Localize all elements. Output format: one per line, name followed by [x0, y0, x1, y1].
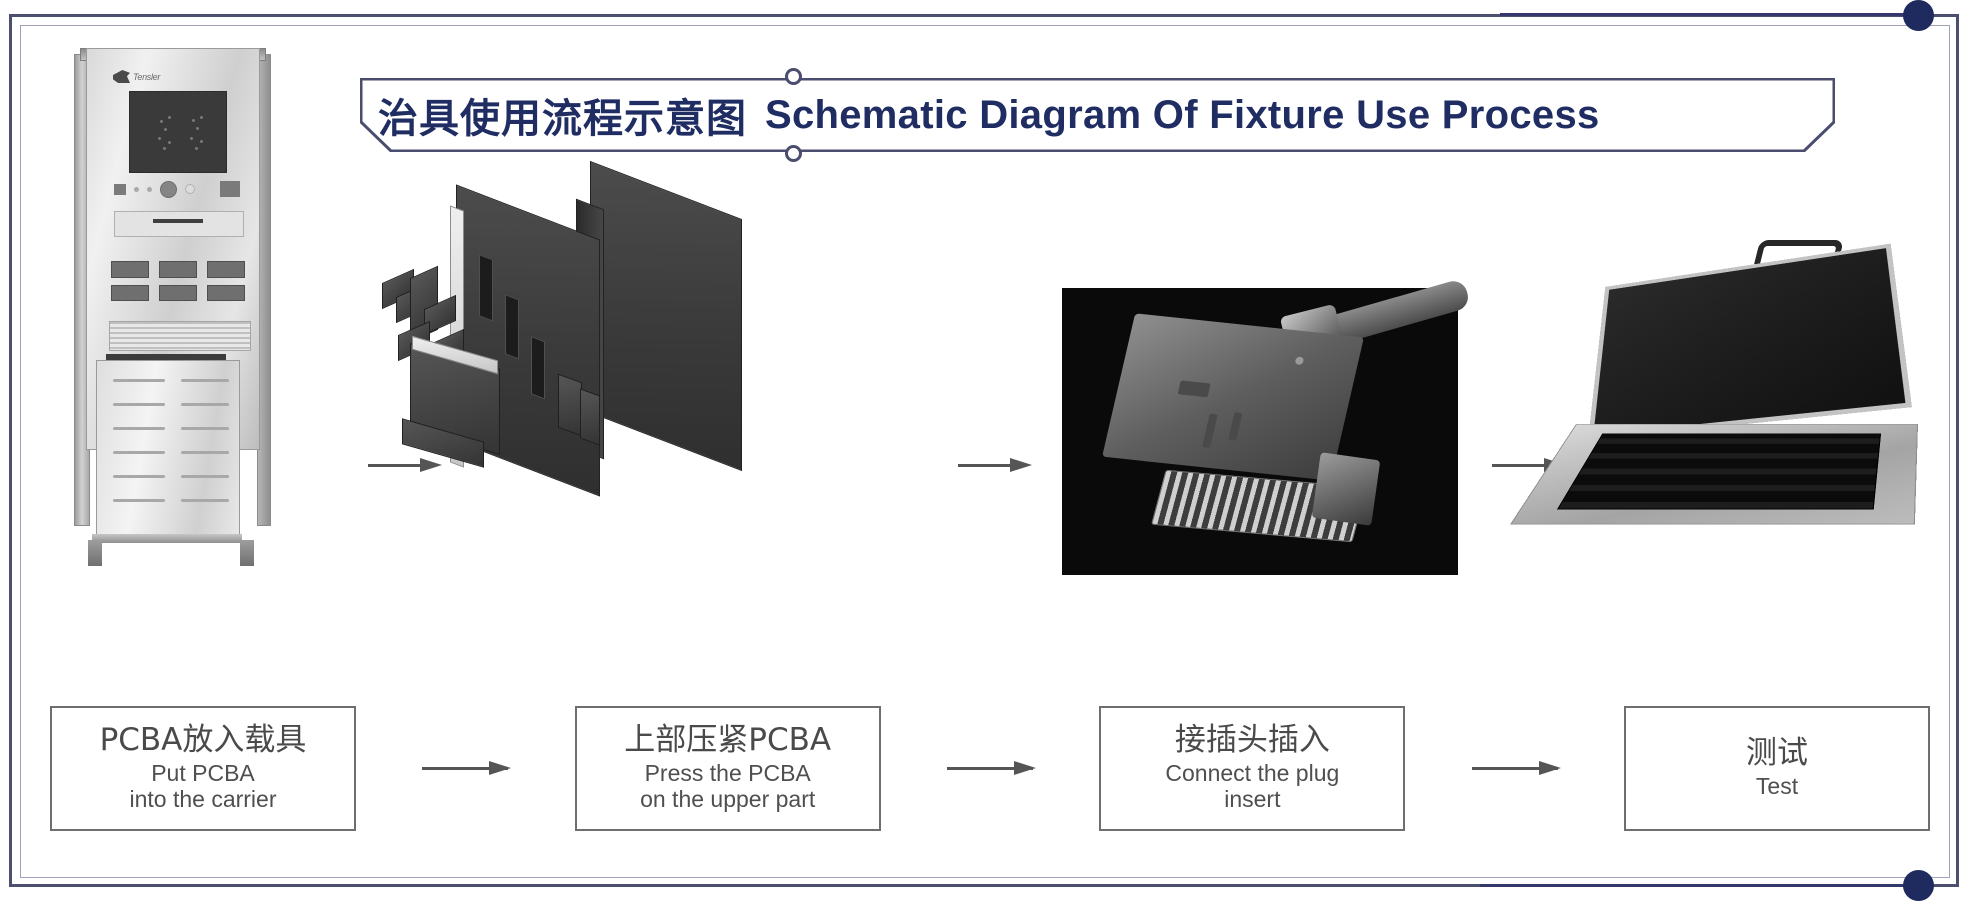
step-box-1[interactable]: PCBA放入载具 Put PCBA into the carrier — [50, 706, 356, 831]
rack-vent-grille — [109, 321, 251, 351]
control-knob — [160, 181, 177, 198]
rack-brand-logo: Tensler — [113, 69, 199, 84]
rack-control-panel — [114, 179, 240, 199]
arrow-head-icon — [1010, 458, 1032, 472]
cad-cutout-2 — [505, 294, 519, 359]
step-box-2[interactable]: 上部压紧PCBA Press the PCBA on the upper par… — [575, 706, 881, 831]
step-arrow-1 — [356, 757, 575, 779]
step-3-label-en-line2: insert — [1224, 786, 1280, 812]
case-base — [1510, 424, 1918, 525]
step-1-label-en-line2: into the carrier — [129, 786, 276, 812]
rack-display-screen — [129, 91, 227, 173]
housing-marking-3 — [1228, 412, 1242, 440]
rack-lower-cabinet — [96, 360, 240, 537]
drive-slot — [153, 219, 203, 223]
flow-arrow-photo-2 — [958, 455, 1036, 477]
step-1-label-cn: PCBA放入载具 — [100, 724, 307, 757]
step-2-label-en-line2: on the upper part — [640, 786, 815, 812]
housing-marking-1 — [1178, 380, 1211, 397]
case-fixture-tray — [1556, 433, 1880, 509]
arrow-shaft — [1492, 464, 1550, 467]
photo-pcba-carrier-cad — [380, 180, 760, 500]
brand-mark-icon — [113, 70, 130, 83]
arrow-head-icon — [489, 761, 511, 775]
case-lid-inner-foam — [1593, 248, 1905, 435]
rack-foot-right — [240, 540, 254, 566]
arrow-shaft — [958, 464, 1016, 467]
brand-name-label: Tensler — [133, 72, 160, 82]
slide-page: 治具使用流程示意图 Schematic Diagram Of Fixture U… — [0, 0, 1977, 913]
process-step-row: PCBA放入载具 Put PCBA into the carrier 上部压紧P… — [50, 698, 1930, 838]
arrow-head-icon — [1014, 761, 1036, 775]
rack-drive-bay — [114, 211, 244, 237]
arrow-head-icon — [1539, 761, 1561, 775]
step-arrow-3 — [1405, 757, 1624, 779]
step-2-label-cn: 上部压紧PCBA — [624, 724, 831, 757]
control-indicator-2 — [147, 187, 152, 192]
rack-foot-left — [88, 540, 102, 566]
rack-base-plate — [92, 534, 242, 543]
screen-dot-pattern — [130, 92, 226, 172]
photo-connector-plug — [1062, 288, 1458, 575]
step-box-4[interactable]: 测试 Test — [1624, 706, 1930, 831]
control-square-button — [114, 184, 126, 195]
housing-marking-2 — [1202, 414, 1218, 448]
housing-screw — [1295, 356, 1305, 365]
step-3-label-cn: 接插头插入 — [1175, 724, 1330, 757]
photo-test-rack-cabinet: Tensler — [72, 48, 272, 538]
control-block — [220, 181, 240, 197]
case-lid — [1588, 244, 1912, 440]
cad-cutout-3 — [531, 336, 545, 399]
step-1-label-en-line1: Put PCBA — [151, 760, 255, 786]
photo-fixture-case — [1570, 238, 1930, 568]
step-4-label-cn: 测试 — [1746, 737, 1808, 770]
control-indicator-1 — [134, 187, 139, 192]
cad-side-connector-2 — [580, 388, 600, 445]
rack-shelf-rails — [97, 361, 239, 536]
rack-module-slots — [111, 261, 245, 301]
step-arrow-2 — [881, 757, 1100, 779]
step-3-label-en-line1: Connect the plug — [1165, 760, 1339, 786]
connector-latch — [1312, 452, 1381, 526]
step-box-3[interactable]: 接插头插入 Connect the plug insert — [1099, 706, 1405, 831]
step-4-label-en-line1: Test — [1756, 773, 1798, 799]
step-2-label-en-line1: Press the PCBA — [645, 760, 811, 786]
control-indicator-3 — [185, 184, 195, 194]
cad-side-connector-1 — [558, 374, 582, 437]
cad-rear-panel — [590, 161, 742, 471]
cad-cutout-1 — [479, 254, 493, 321]
